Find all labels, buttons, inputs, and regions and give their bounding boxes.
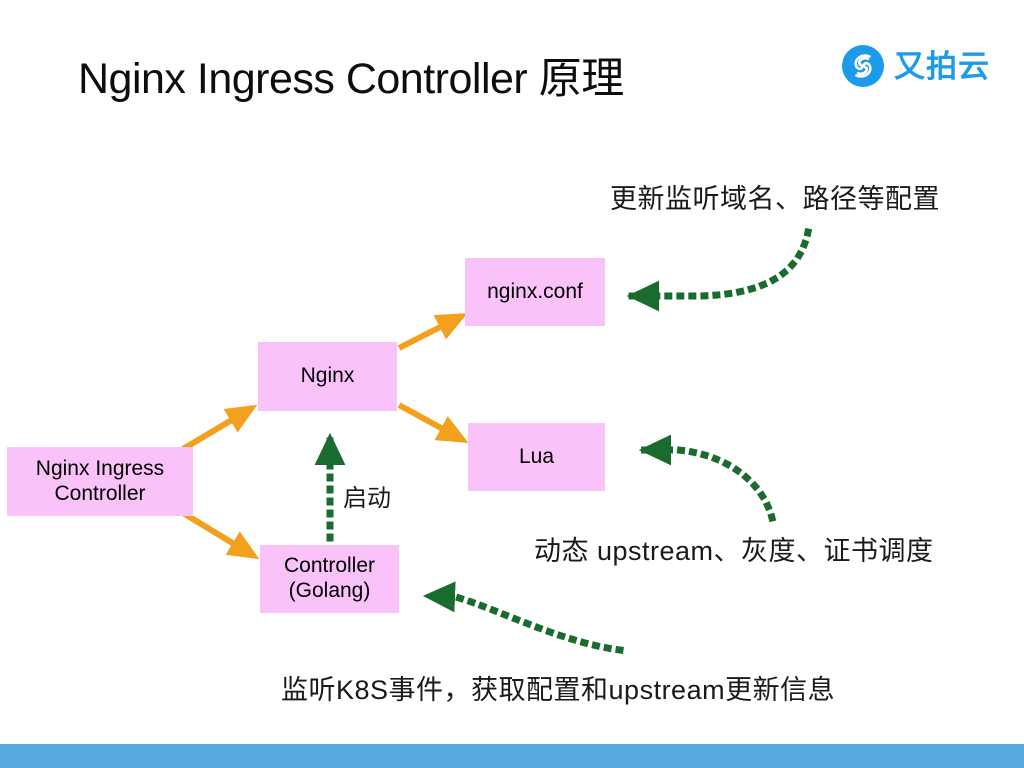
architecture-diagram: Nginx IngressController Nginx nginx.conf… xyxy=(0,0,1024,768)
diagram-connectors xyxy=(0,0,1024,768)
diagram-node-nginx-ingress-controller: Nginx IngressController xyxy=(7,447,193,516)
diagram-node-lua: Lua xyxy=(468,423,605,491)
diagram-node-nginx: Nginx xyxy=(258,342,397,411)
annotation-dynamic-upstream: 动态 upstream、灰度、证书调度 xyxy=(534,529,934,568)
edge-label-startup: 启动 xyxy=(343,478,391,513)
annotation-k8s-events: 监听K8S事件，获取配置和upstream更新信息 xyxy=(281,668,835,707)
diagram-node-nginx-conf: nginx.conf xyxy=(465,258,605,326)
node-label: nginx.conf xyxy=(487,280,583,305)
diagram-node-controller-golang: Controller(Golang) xyxy=(260,545,399,613)
annotation-config-update: 更新监听域名、路径等配置 xyxy=(610,177,940,216)
footer-accent-bar xyxy=(0,744,1024,768)
node-label: Lua xyxy=(519,445,554,470)
node-label: Nginx IngressController xyxy=(36,457,164,507)
node-label: Controller(Golang) xyxy=(284,554,375,604)
node-label: Nginx xyxy=(301,364,355,389)
